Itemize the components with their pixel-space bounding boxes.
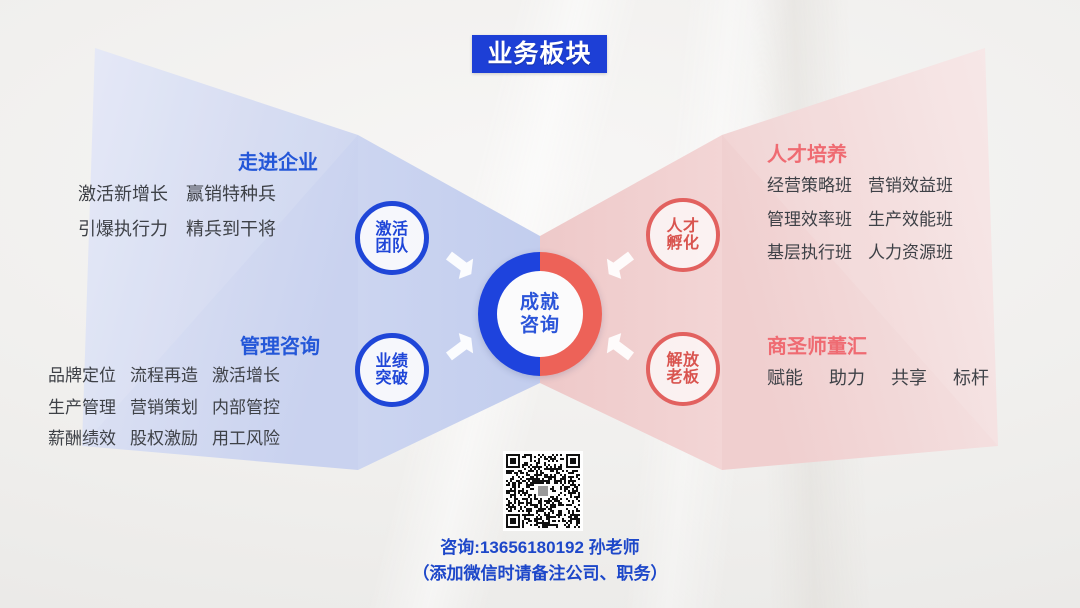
contact-note-line: （添加微信时请备注公司、职务） [0,561,1080,587]
block-item: 基层执行班 [767,239,852,267]
arrow-to-liberate-boss [603,326,643,366]
circle-label-line2: 老板 [666,369,699,386]
block-row: 赋能 助力 共享 标杆 [767,364,1017,393]
infographic-canvas: 业务板块 走进企业 激活新增长 赢销特种兵 引爆执行力 精兵到干将 管理咨询 品… [0,0,1080,608]
center-hub-line2: 咨询 [520,315,560,336]
block-item: 引爆执行力 [78,215,168,244]
arrow-to-performance-breakthrough [437,326,477,366]
block-heading-merchant-club: 商圣师董汇 [767,336,1017,358]
block-item: 激活新增长 [78,180,168,209]
block-item: 营销效益班 [868,172,953,200]
arrow-to-talent-incubation [603,246,643,286]
block-row: 薪酬绩效 股权激励 用工风险 [48,425,320,453]
circle-label-line1: 人才 [666,218,699,235]
block-heading-management-consulting: 管理咨询 [48,336,320,358]
center-hub-line1: 成就 [520,292,560,313]
block-item: 生产效能班 [868,206,953,234]
circle-label-line2: 团队 [375,238,408,255]
block-row: 激活新增长 赢销特种兵 [78,180,318,209]
block-item: 激活增长 [212,362,280,390]
block-item: 共享 [891,364,927,393]
circle-liberate-boss[interactable]: 解放 老板 [646,332,720,406]
block-item: 生产管理 [48,394,116,422]
center-hub[interactable]: 成就 咨询 [478,252,602,376]
block-enter-enterprise: 走进企业 激活新增长 赢销特种兵 引爆执行力 精兵到干将 [78,152,318,244]
block-item: 标杆 [953,364,989,393]
block-heading-talent-development: 人才培养 [767,144,1017,166]
block-row: 经营策略班 营销效益班 [767,172,1017,200]
qr-code-canvas [506,454,580,528]
block-item: 管理效率班 [767,206,852,234]
contact-phone-line: 咨询:13656180192 孙老师 [0,535,1080,561]
block-item: 股权激励 [130,425,198,453]
circle-activate-team[interactable]: 激活 团队 [355,201,429,275]
circle-label-line1: 激活 [375,221,408,238]
block-item: 赋能 [767,364,803,393]
arrow-to-activate-team [437,246,477,286]
block-row: 管理效率班 生产效能班 [767,206,1017,234]
block-item: 用工风险 [212,425,280,453]
circle-label-line2: 孵化 [666,235,699,252]
circle-performance-breakthrough[interactable]: 业绩 突破 [355,333,429,407]
block-item: 人力资源班 [868,239,953,267]
circle-label-line1: 解放 [666,352,699,369]
block-row: 生产管理 营销策划 内部管控 [48,394,320,422]
block-talent-development: 人才培养 经营策略班 营销效益班 管理效率班 生产效能班 基层执行班 人力资源班 [767,144,1017,267]
block-row: 引爆执行力 精兵到干将 [78,215,318,244]
block-heading-enter-enterprise: 走进企业 [78,152,318,174]
block-merchant-club: 商圣师董汇 赋能 助力 共享 标杆 [767,336,1017,393]
block-row: 基层执行班 人力资源班 [767,239,1017,267]
circle-label-line1: 业绩 [375,353,408,370]
qr-code[interactable] [503,451,583,531]
block-row: 品牌定位 流程再造 激活增长 [48,362,320,390]
block-item: 内部管控 [212,394,280,422]
block-item: 营销策划 [130,394,198,422]
circle-talent-incubation[interactable]: 人才 孵化 [646,198,720,272]
block-item: 赢销特种兵 [186,180,276,209]
circle-label-line2: 突破 [375,370,408,387]
section-title-text: 业务板块 [487,42,591,67]
center-hub-inner: 成就 咨询 [497,271,583,357]
block-item: 精兵到干将 [186,215,276,244]
contact-info: 咨询:13656180192 孙老师 （添加微信时请备注公司、职务） [0,535,1080,586]
block-item: 品牌定位 [48,362,116,390]
block-item: 薪酬绩效 [48,425,116,453]
block-item: 助力 [829,364,865,393]
block-item: 流程再造 [130,362,198,390]
section-title-banner: 业务板块 [472,35,607,73]
block-item: 经营策略班 [767,172,852,200]
block-management-consulting: 管理咨询 品牌定位 流程再造 激活增长 生产管理 营销策划 内部管控 薪酬绩效 … [48,336,320,453]
